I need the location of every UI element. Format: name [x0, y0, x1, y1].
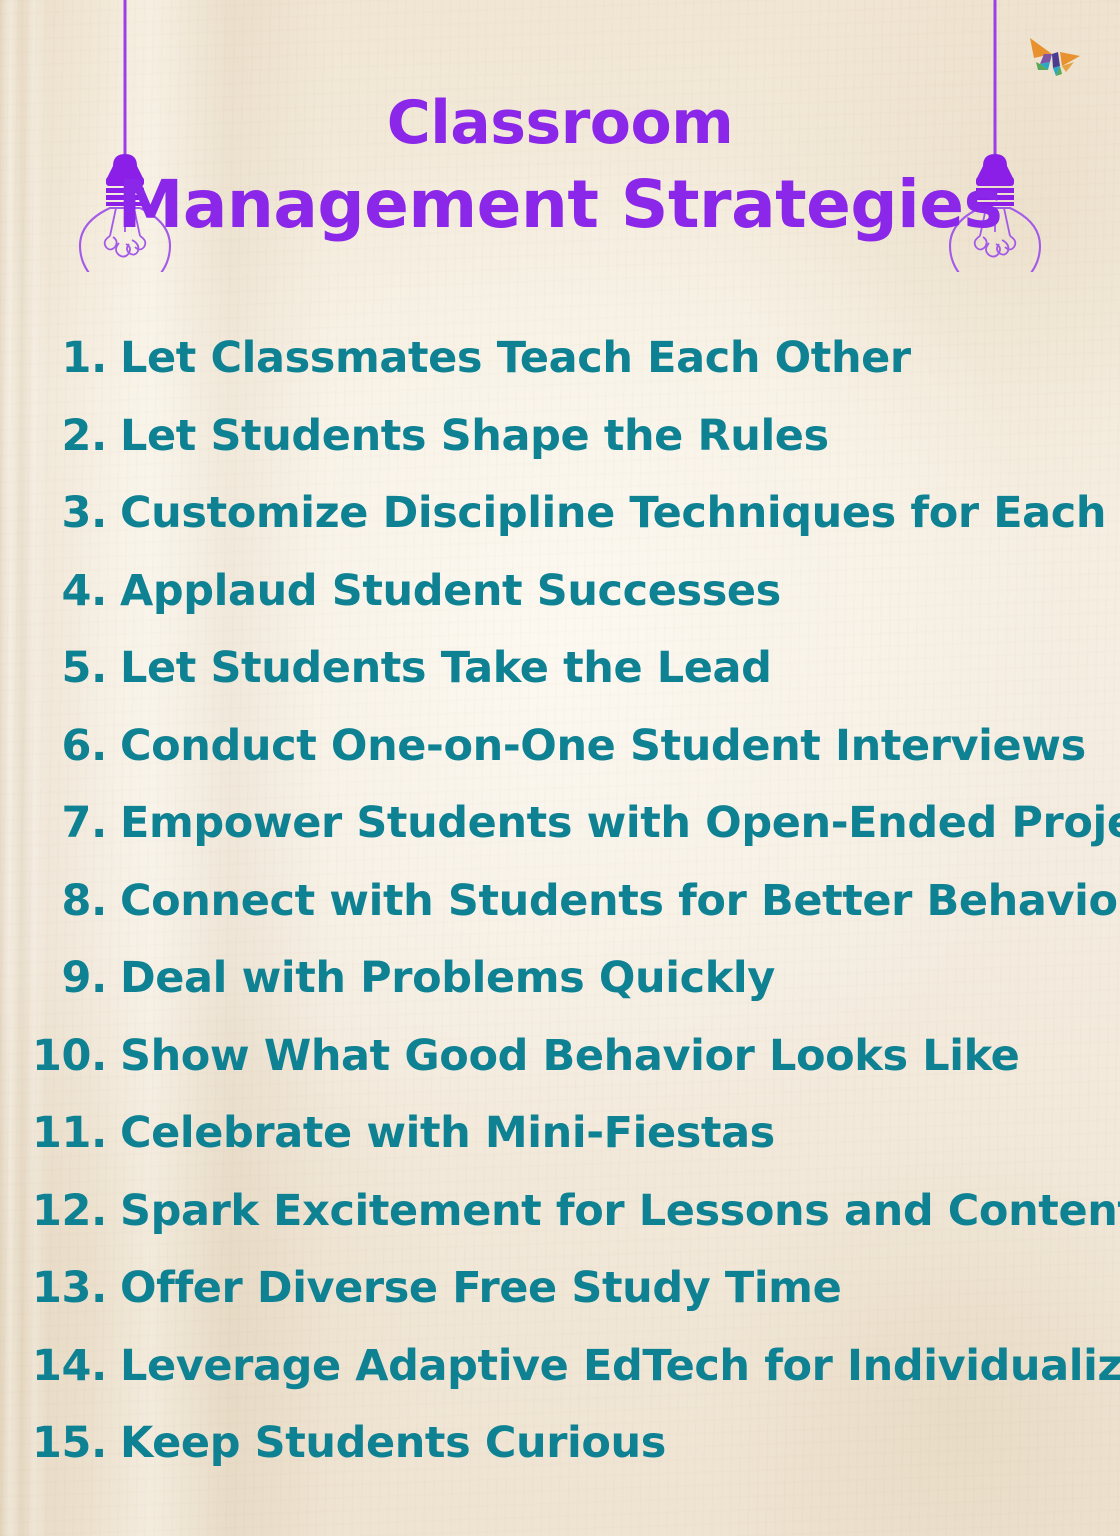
list-item-label: Deal with Problems Quickly — [107, 940, 775, 1018]
list-item-number: 14. — [0, 1328, 107, 1406]
list-item: 15. Keep Students Curious — [0, 1405, 1120, 1483]
list-item: 4. Applaud Student Successes — [0, 553, 1120, 631]
butterfly-logo — [1026, 32, 1084, 87]
list-item: 2. Let Students Shape the Rules — [0, 398, 1120, 476]
list-item-number: 4. — [0, 553, 107, 631]
list-item-label: Let Students Take the Lead — [107, 630, 772, 708]
list-item-label: Applaud Student Successes — [107, 553, 781, 631]
page-title: Classroom Management Strategies — [0, 82, 1120, 246]
list-item-number: 15. — [0, 1405, 107, 1483]
list-item-number: 2. — [0, 398, 107, 476]
list-item: 10. Show What Good Behavior Looks Like — [0, 1018, 1120, 1096]
butterfly-icon — [1026, 32, 1084, 82]
list-item-number: 7. — [0, 785, 107, 863]
list-item-number: 11. — [0, 1095, 107, 1173]
list-item-label: Let Classmates Teach Each Other — [107, 320, 911, 398]
list-item-label: Conduct One-on-One Student Interviews — [107, 708, 1086, 786]
list-item: 12. Spark Excitement for Lessons and Con… — [0, 1173, 1120, 1251]
list-item: 3. Customize Discipline Techniques for E… — [0, 475, 1120, 553]
list-item-label: Show What Good Behavior Looks Like — [107, 1018, 1019, 1096]
list-item: 9. Deal with Problems Quickly — [0, 940, 1120, 1018]
list-item: 1. Let Classmates Teach Each Other — [0, 320, 1120, 398]
list-item: 13. Offer Diverse Free Study Time — [0, 1250, 1120, 1328]
list-item: 7. Empower Students with Open-Ended Proj… — [0, 785, 1120, 863]
list-item: 6. Conduct One-on-One Student Interviews — [0, 708, 1120, 786]
list-item: 11. Celebrate with Mini-Fiestas — [0, 1095, 1120, 1173]
strategy-list: 1. Let Classmates Teach Each Other 2. Le… — [0, 320, 1120, 1483]
list-item-number: 5. — [0, 630, 107, 708]
list-item-number: 1. — [0, 320, 107, 398]
page-title-line-1: Classroom — [0, 82, 1120, 164]
list-item-label: Customize Discipline Techniques for Each… — [107, 475, 1120, 553]
list-item: 14. Leverage Adaptive EdTech for Individ… — [0, 1328, 1120, 1406]
list-item-label: Let Students Shape the Rules — [107, 398, 829, 476]
list-item-number: 9. — [0, 940, 107, 1018]
list-item-label: Leverage Adaptive EdTech for Individuali… — [107, 1328, 1120, 1406]
list-item-label: Keep Students Curious — [107, 1405, 666, 1483]
list-item-number: 10. — [0, 1018, 107, 1096]
list-item-number: 12. — [0, 1173, 107, 1251]
list-item-number: 6. — [0, 708, 107, 786]
list-item-number: 13. — [0, 1250, 107, 1328]
list-item: 5. Let Students Take the Lead — [0, 630, 1120, 708]
list-item-label: Celebrate with Mini-Fiestas — [107, 1095, 775, 1173]
page-title-line-2: Management Strategies — [0, 164, 1120, 246]
list-item-label: Empower Students with Open-Ended Project… — [107, 785, 1120, 863]
list-item-number: 3. — [0, 475, 107, 553]
list-item-number: 8. — [0, 863, 107, 941]
list-item-label: Offer Diverse Free Study Time — [107, 1250, 841, 1328]
list-item-label: Spark Excitement for Lessons and Content — [107, 1173, 1120, 1251]
list-item: 8. Connect with Students for Better Beha… — [0, 863, 1120, 941]
list-item-label: Connect with Students for Better Behavio… — [107, 863, 1120, 941]
